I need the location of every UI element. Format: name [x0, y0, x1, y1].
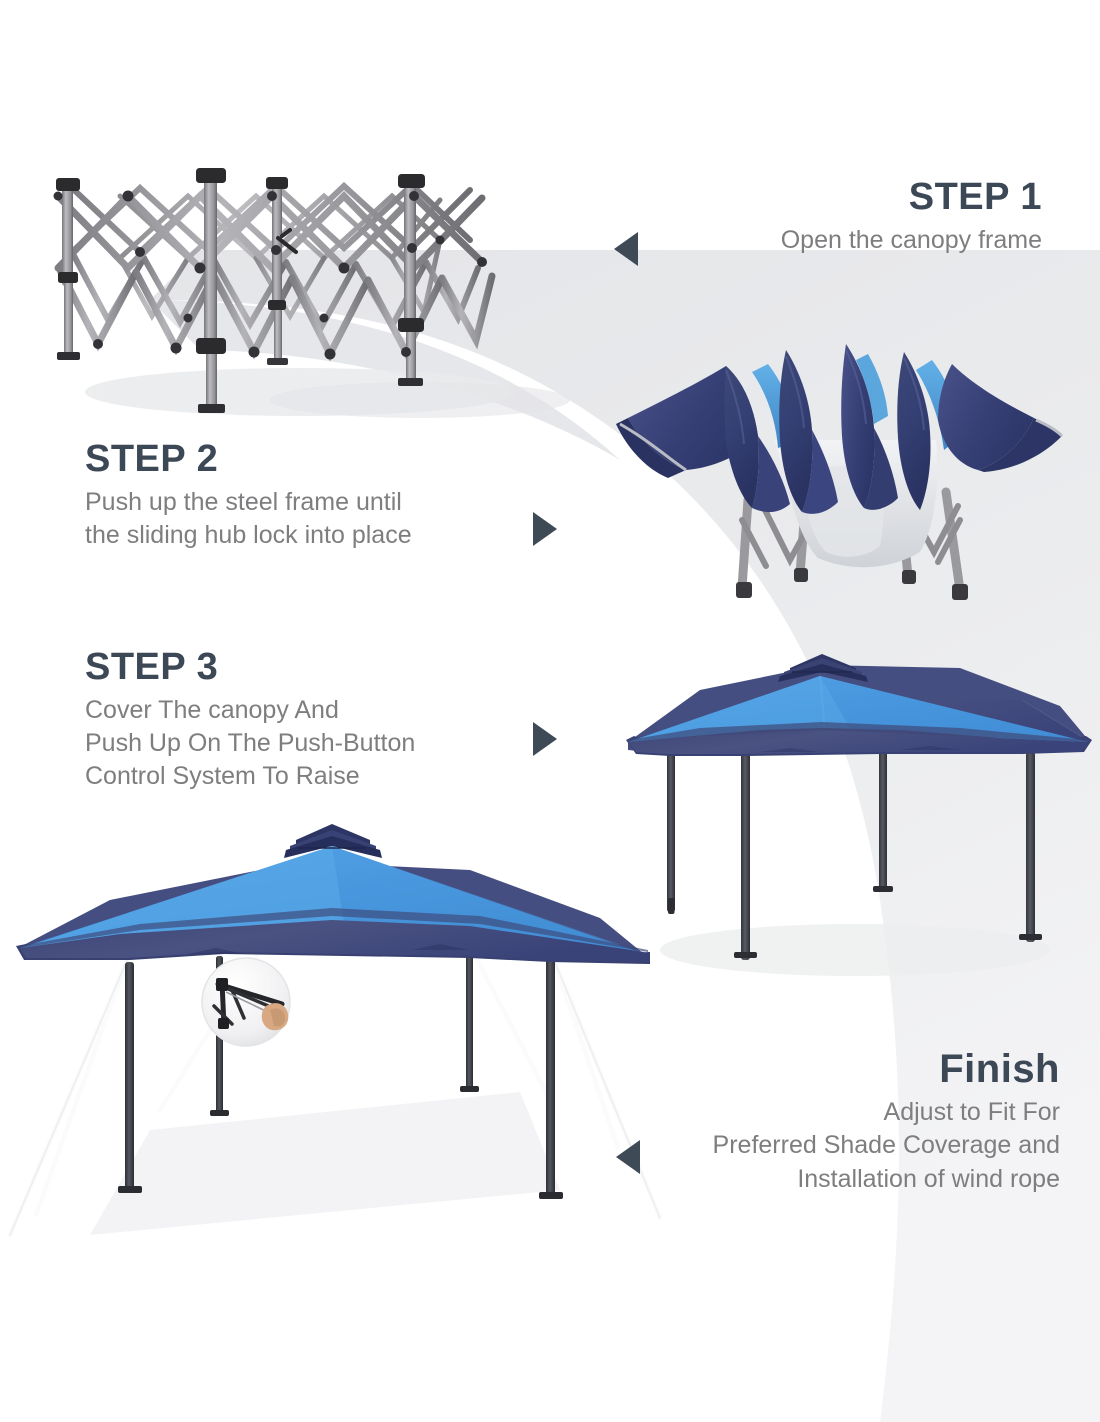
step-3-text-block: STEP 3 Cover The canopy And Push Up On T… [85, 648, 555, 794]
step-3-line-1: Cover The canopy And [85, 694, 555, 727]
step-1-line-1: Open the canopy frame [622, 224, 1042, 257]
step-2-heading: STEP 2 [85, 440, 545, 480]
step-3-line-2: Push Up On The Push-Button [85, 727, 555, 760]
finish-heading: Finish [620, 1048, 1060, 1090]
arrow-right-icon-step-3 [533, 722, 557, 756]
step-1-heading: STEP 1 [622, 178, 1042, 218]
step-2-line-1: Push up the steel frame until [85, 486, 545, 519]
detail-inset-hub [202, 958, 290, 1046]
arrow-left-icon-finish [616, 1140, 640, 1174]
infographic-canvas: STEP 1 Open the canopy frame STEP 2 Push… [0, 0, 1100, 1422]
finish-line-1: Adjust to Fit For [620, 1096, 1060, 1129]
finish-line-3: Installation of wind rope [620, 1163, 1060, 1196]
step-2-line-2: the sliding hub lock into place [85, 519, 545, 552]
finish-line-2: Preferred Shade Coverage and [620, 1129, 1060, 1162]
step-3-heading: STEP 3 [85, 648, 555, 688]
arrow-right-icon-step-2 [533, 512, 557, 546]
finish-text-block: Finish Adjust to Fit For Preferred Shade… [620, 1048, 1060, 1196]
step-2-text-block: STEP 2 Push up the steel frame until the… [85, 440, 545, 552]
arrow-left-icon-step-1 [614, 232, 638, 266]
step-3-line-3: Control System To Raise [85, 760, 555, 793]
step-1-text-block: STEP 1 Open the canopy frame [622, 178, 1042, 257]
